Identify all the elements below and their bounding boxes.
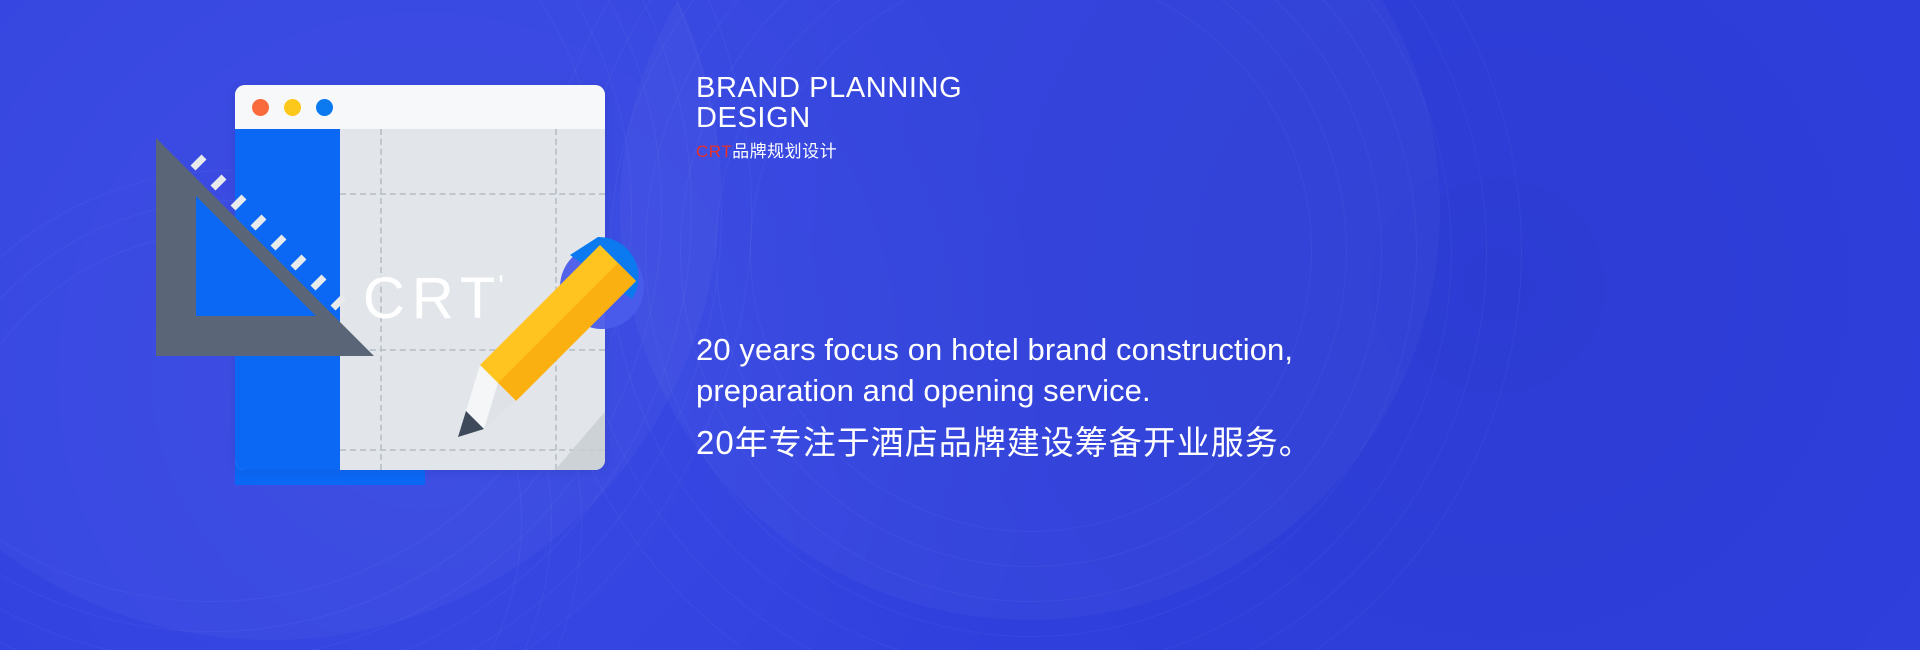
triangle-ruler — [150, 132, 380, 362]
close-dot[interactable] — [252, 99, 269, 116]
headline-block: BRAND PLANNING DESIGN CRT品牌规划设计 — [696, 74, 1396, 162]
brand-banner: CRT' — [0, 0, 1920, 650]
tagline-english: 20 years focus on hotel brand constructi… — [696, 330, 1396, 412]
tagline-chinese: 20年专注于酒店品牌建设筹备开业服务。 — [696, 422, 1396, 465]
brand-illustration: CRT' — [150, 60, 710, 480]
window-control-dots — [252, 99, 333, 116]
subheadline-text: CRT品牌规划设计 — [696, 142, 1396, 162]
pencil-illustration — [450, 215, 690, 465]
window-title-bar — [235, 85, 605, 129]
subheadline-brand: CRT — [696, 142, 732, 161]
headline-text: BRAND PLANNING DESIGN — [696, 74, 1396, 134]
minimize-dot[interactable] — [284, 99, 301, 116]
tagline-block: 20 years focus on hotel brand constructi… — [696, 330, 1396, 465]
maximize-dot[interactable] — [316, 99, 333, 116]
subheadline-chinese: 品牌规划设计 — [732, 142, 837, 161]
